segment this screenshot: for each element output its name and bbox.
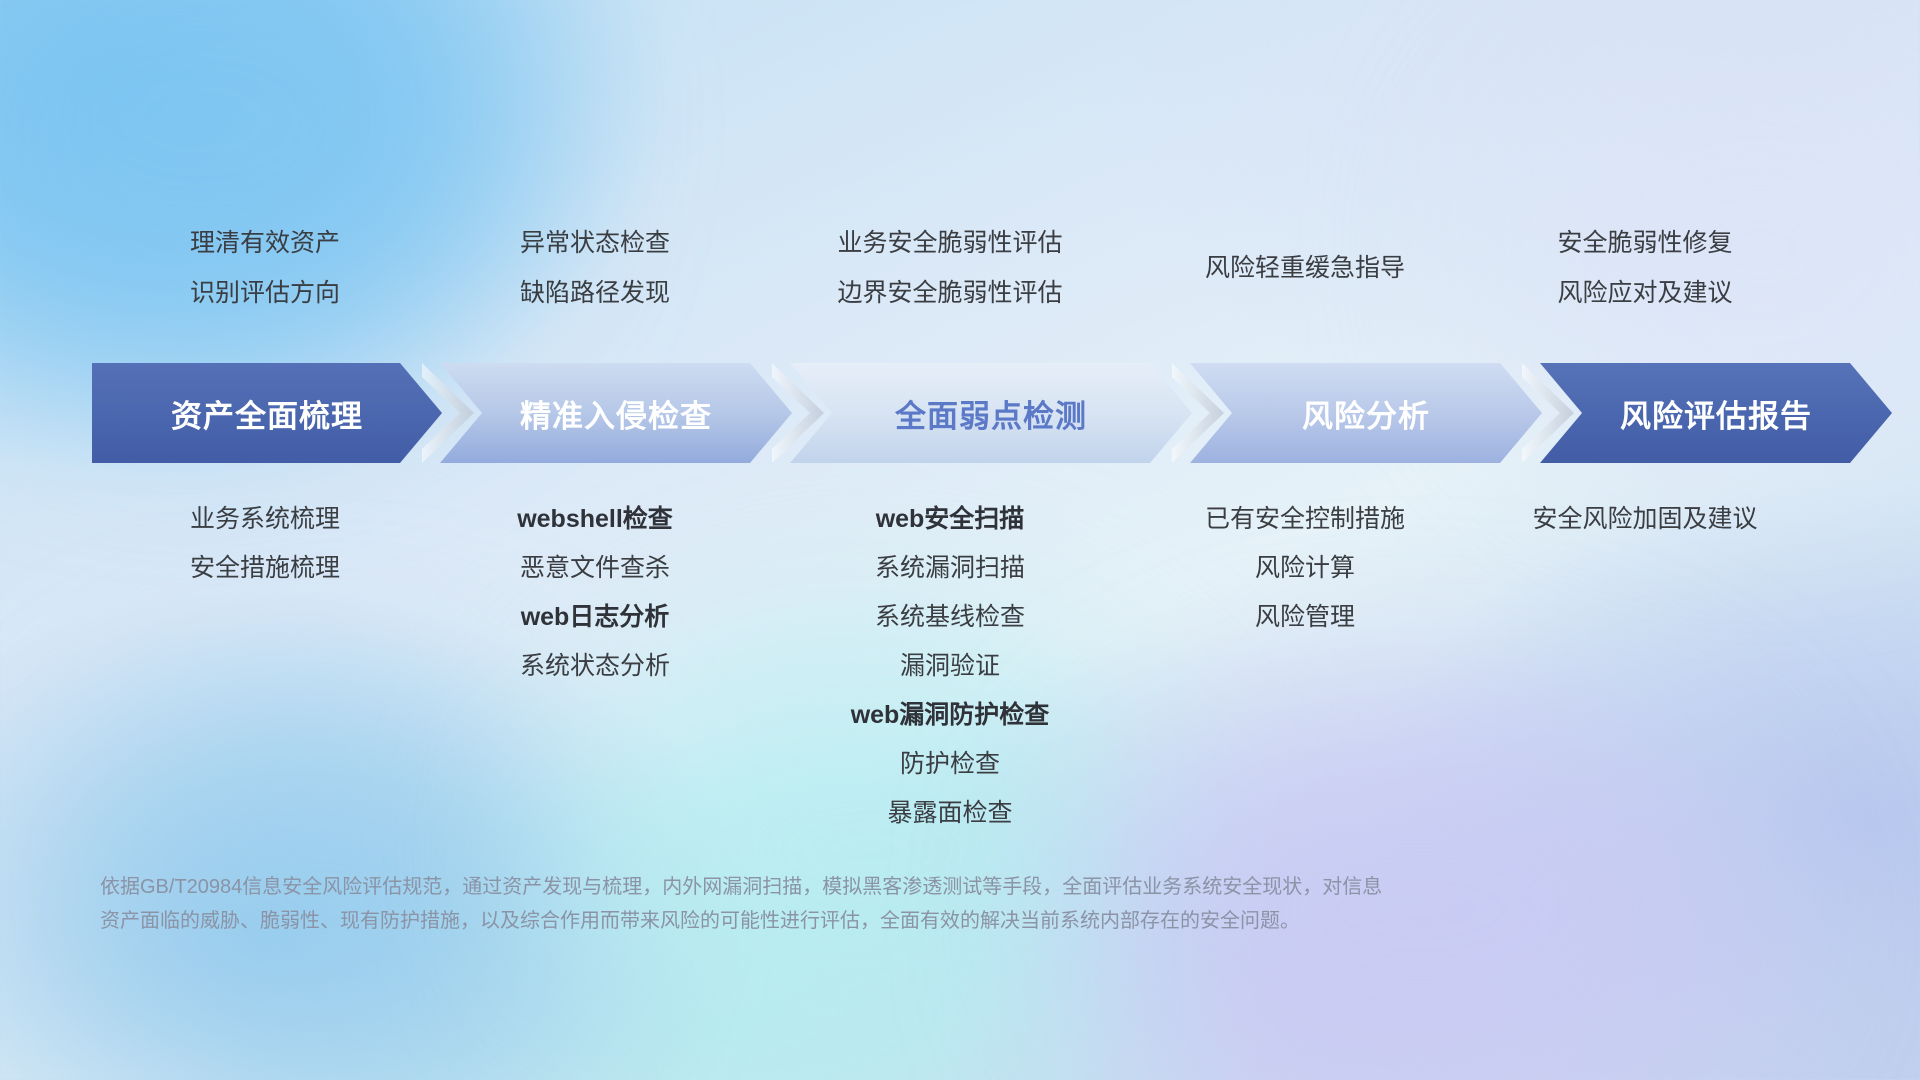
top-label: 边界安全脆弱性评估: [760, 268, 1140, 318]
bottom-label: 防护检查: [760, 740, 1140, 789]
bottom-labels-stage-4: 已有安全控制措施 风险计算 风险管理: [1140, 495, 1470, 642]
bottom-label: 风险管理: [1140, 593, 1470, 642]
bottom-labels-stage-1: 业务系统梳理 安全措施梳理: [100, 495, 430, 593]
top-labels-stage-5: 安全脆弱性修复 风险应对及建议: [1470, 218, 1820, 318]
top-label: 业务安全脆弱性评估: [760, 218, 1140, 268]
top-label-row: 理清有效资产 识别评估方向 异常状态检查 缺陷路径发现 业务安全脆弱性评估 边界…: [100, 218, 1820, 318]
bottom-label: 业务系统梳理: [100, 495, 430, 544]
stage-chevron-label: 风险评估报告: [1620, 391, 1812, 436]
stage-chevron-3[interactable]: 全面弱点检测: [790, 363, 1192, 463]
bottom-label-row: 业务系统梳理 安全措施梳理 webshell检查 恶意文件查杀 web日志分析 …: [100, 495, 1820, 838]
footer-line-1: 依据GB/T20984信息安全风险评估规范，通过资产发现与梳理，内外网漏洞扫描，…: [100, 870, 1660, 904]
footer-description: 依据GB/T20984信息安全风险评估规范，通过资产发现与梳理，内外网漏洞扫描，…: [100, 870, 1660, 938]
top-labels-stage-1: 理清有效资产 识别评估方向: [100, 218, 430, 318]
stage-chevron-label: 全面弱点检测: [895, 391, 1087, 436]
stage-chevron-2[interactable]: 精准入侵检查: [440, 363, 792, 463]
top-label: 风险应对及建议: [1470, 268, 1820, 318]
bottom-label: 安全风险加固及建议: [1470, 495, 1820, 544]
bottom-label: 系统状态分析: [430, 642, 760, 691]
bottom-labels-stage-5: 安全风险加固及建议: [1470, 495, 1820, 544]
footer-line-2: 资产面临的威胁、脆弱性、现有防护措施，以及综合作用而带来风险的可能性进行评估，全…: [100, 904, 1660, 938]
stage-chevron-1[interactable]: 资产全面梳理: [92, 363, 442, 463]
top-label: 缺陷路径发现: [430, 268, 760, 318]
top-label: 异常状态检查: [430, 218, 760, 268]
stage-chevron-label: 精准入侵检查: [520, 391, 712, 436]
bottom-label: 系统基线检查: [760, 593, 1140, 642]
stage-chevron-4[interactable]: 风险分析: [1190, 363, 1542, 463]
bottom-label: web日志分析: [430, 593, 760, 642]
stage-chevron-5[interactable]: 风险评估报告: [1540, 363, 1892, 463]
top-labels-stage-3: 业务安全脆弱性评估 边界安全脆弱性评估: [760, 218, 1140, 318]
bottom-label: 漏洞验证: [760, 642, 1140, 691]
top-label: 识别评估方向: [100, 268, 430, 318]
process-diagram: 理清有效资产 识别评估方向 异常状态检查 缺陷路径发现 业务安全脆弱性评估 边界…: [0, 0, 1920, 1080]
bottom-label: 已有安全控制措施: [1140, 495, 1470, 544]
top-labels-stage-2: 异常状态检查 缺陷路径发现: [430, 218, 760, 318]
stage-chevron-label: 风险分析: [1302, 391, 1430, 436]
bottom-label: 风险计算: [1140, 544, 1470, 593]
top-label: 风险轻重缓急指导: [1140, 243, 1470, 293]
bottom-labels-stage-2: webshell检查 恶意文件查杀 web日志分析 系统状态分析: [430, 495, 760, 691]
bottom-labels-stage-3: web安全扫描 系统漏洞扫描 系统基线检查 漏洞验证 web漏洞防护检查 防护检…: [760, 495, 1140, 838]
top-labels-stage-4: 风险轻重缓急指导: [1140, 218, 1470, 318]
bottom-label: 系统漏洞扫描: [760, 544, 1140, 593]
stage-chevron-banner: 资产全面梳理 精准入侵检查 全面弱点检测 风险分析 风险评估报告: [92, 363, 1837, 463]
top-label: 安全脆弱性修复: [1470, 218, 1820, 268]
top-label: 理清有效资产: [100, 218, 430, 268]
bottom-label: web漏洞防护检查: [760, 691, 1140, 740]
stage-chevron-label: 资产全面梳理: [171, 391, 363, 436]
bottom-label: 暴露面检查: [760, 789, 1140, 838]
bottom-label: web安全扫描: [760, 495, 1140, 544]
bottom-label: 恶意文件查杀: [430, 544, 760, 593]
bottom-label: 安全措施梳理: [100, 544, 430, 593]
bottom-label: webshell检查: [430, 495, 760, 544]
